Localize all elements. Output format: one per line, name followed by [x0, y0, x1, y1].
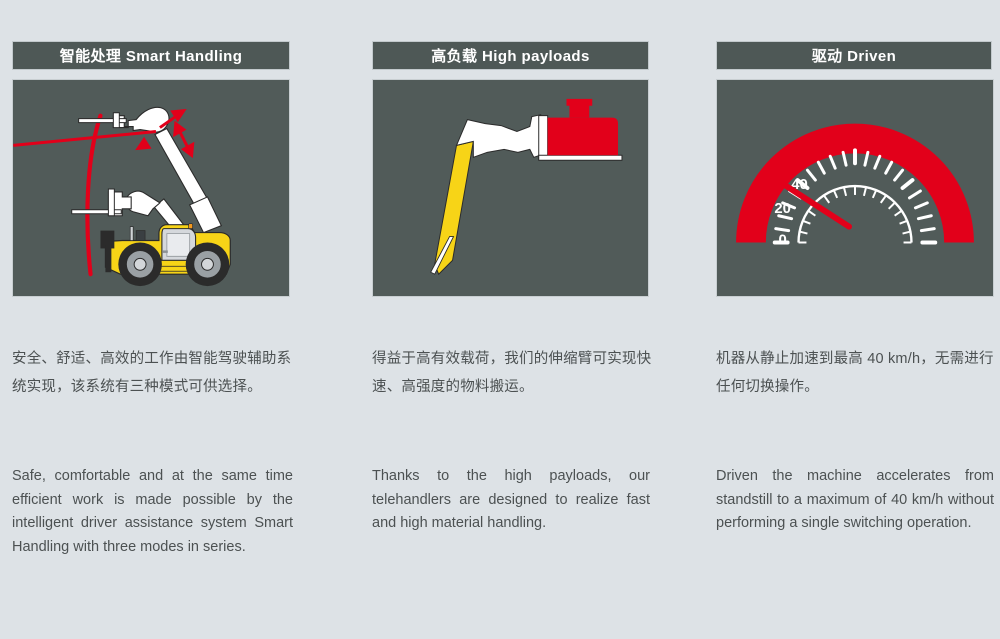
- illustration-telehandler: [12, 79, 290, 297]
- description-cn-high-payloads: 得益于高有效载荷，我们的伸缩臂可实现快速、高强度的物料搬运。: [372, 345, 662, 401]
- description-en-high-payloads: Thanks to the high payloads, our telehan…: [372, 465, 650, 536]
- telehandler-illustration-svg: [13, 80, 289, 296]
- panel-columns: 智能处理 Smart Handling: [0, 0, 1000, 639]
- feature-panels-page: 智能处理 Smart Handling: [0, 0, 1000, 639]
- carriage-upright: [539, 116, 548, 160]
- description-cn-driven: 机器从静止加速到最高 40 km/h，无需进行任何切换操作。: [716, 345, 1000, 401]
- illustration-payload-arm: [372, 79, 649, 297]
- gauge-label-20: 20: [774, 201, 791, 217]
- panel-smart-handling: 智能处理 Smart Handling: [0, 0, 355, 639]
- speedometer-illustration-svg: 0 20 40: [717, 80, 993, 296]
- panel-high-payloads: 高负载 High payloads: [355, 0, 703, 639]
- gauge-label-0: 0: [779, 232, 787, 248]
- fork-tine: [539, 155, 622, 160]
- description-cn-smart-handling: 安全、舒适、高效的工作由智能驾驶辅助系统实现，该系统有三种模式可供选择。: [12, 345, 304, 401]
- panel-header-smart-handling: 智能处理 Smart Handling: [12, 41, 290, 70]
- payload-arm-illustration-svg: [373, 80, 648, 296]
- description-en-driven: Driven the machine accelerates from stan…: [716, 465, 994, 536]
- illustration-speedometer: 0 20 40: [716, 79, 994, 297]
- description-en-smart-handling: Safe, comfortable and at the same time e…: [12, 465, 293, 559]
- beacon-light: [189, 224, 193, 229]
- panel-header-high-payloads: 高负载 High payloads: [372, 41, 649, 70]
- illustration-background: [373, 80, 647, 296]
- panel-header-driven: 驱动 Driven: [716, 41, 992, 70]
- panel-driven: 驱动 Driven: [703, 0, 1000, 639]
